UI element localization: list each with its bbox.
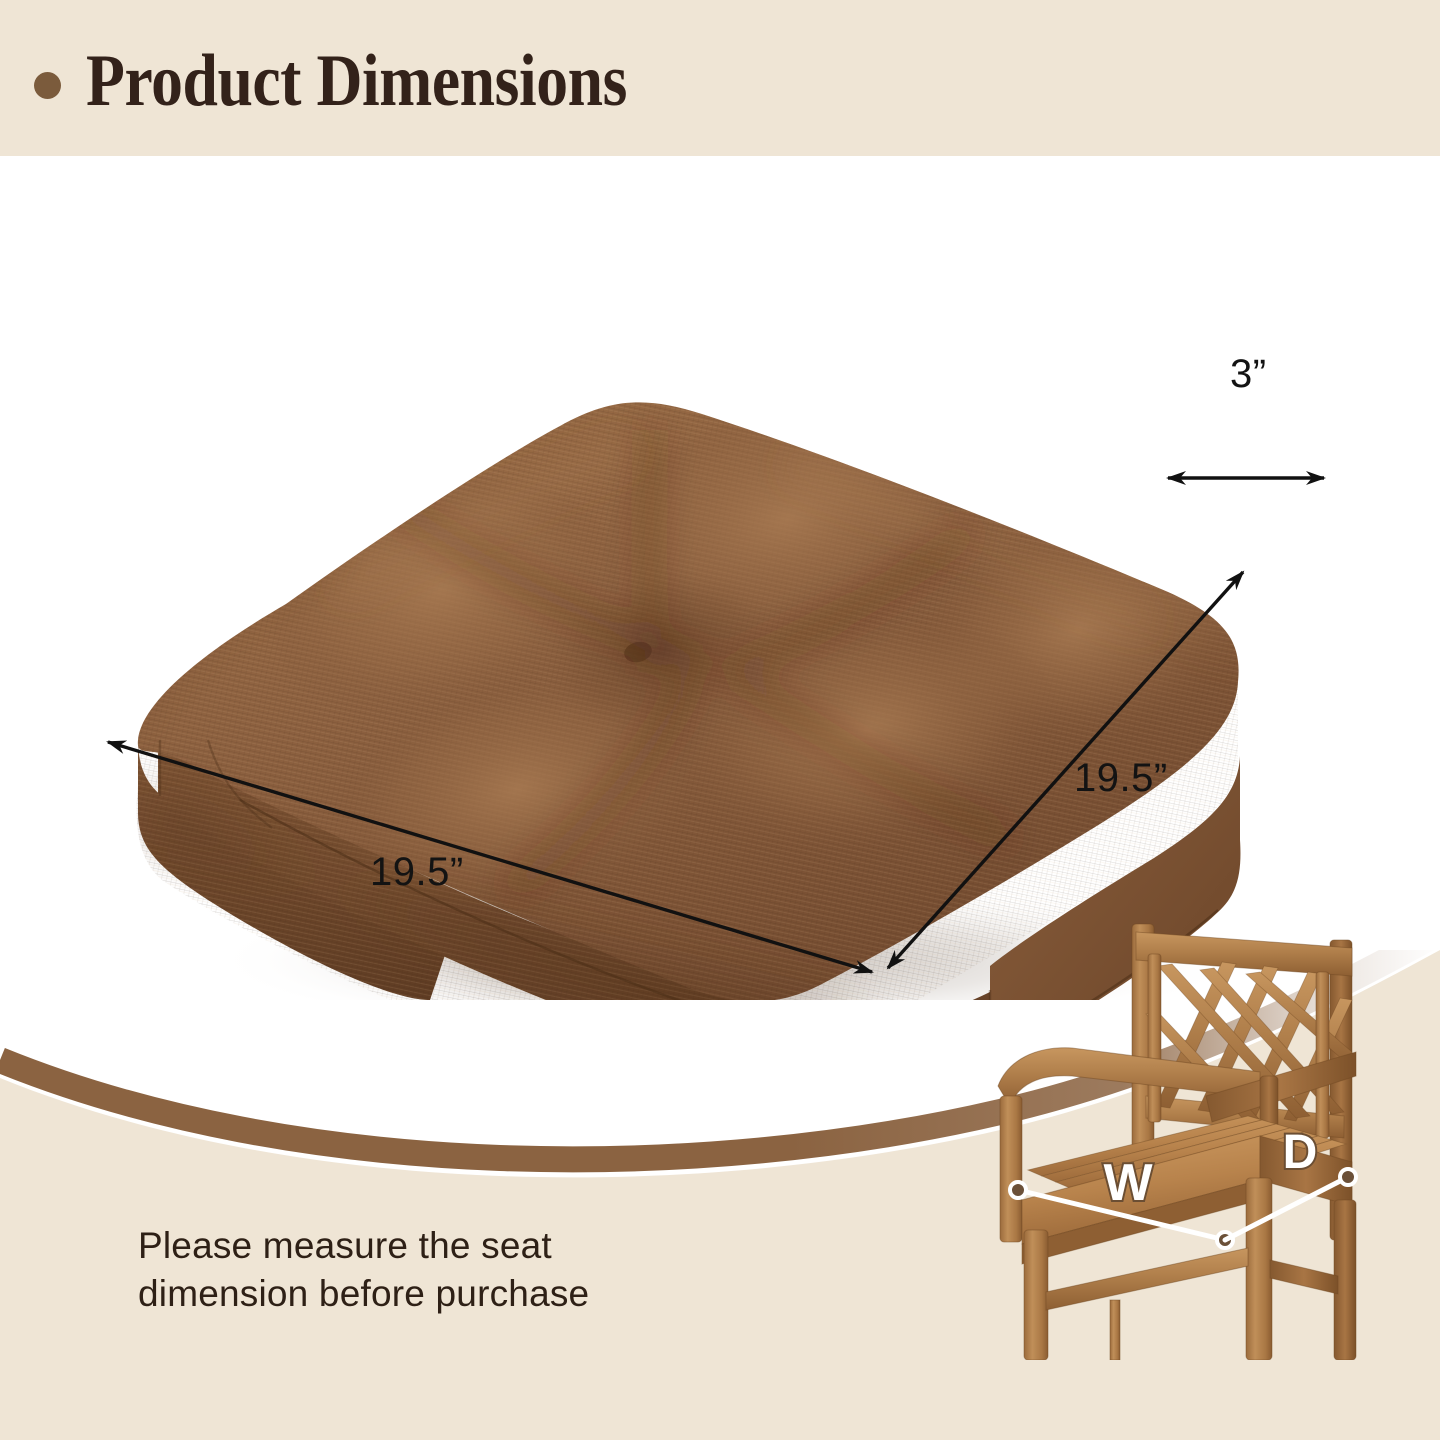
- product-cushion-image: [90, 200, 1290, 1000]
- chair-depth-marker: D: [1283, 1126, 1318, 1179]
- reference-chair-illustration: W D: [960, 900, 1390, 1360]
- bullet-dot-icon: [34, 72, 61, 99]
- page-title: Product Dimensions: [86, 40, 627, 122]
- instruction-line-2: dimension before purchase: [138, 1270, 589, 1318]
- header-band: Product Dimensions: [0, 0, 1440, 156]
- height-dimension-label: 3”: [1230, 352, 1267, 397]
- chair-width-marker: W: [1103, 1154, 1153, 1212]
- depth-dimension-label: 19.5”: [1074, 756, 1168, 801]
- instruction-text: Please measure the seat dimension before…: [138, 1222, 589, 1318]
- infographic-canvas: W D 3” 19.5” 19.5”: [0, 0, 1440, 1440]
- width-dimension-label: 19.5”: [370, 850, 464, 895]
- instruction-line-1: Please measure the seat: [138, 1222, 589, 1270]
